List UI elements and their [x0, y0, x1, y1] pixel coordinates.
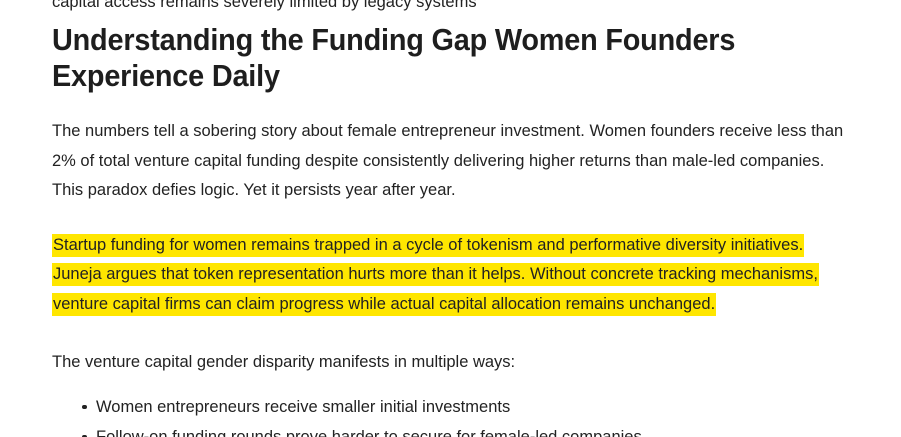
paragraph-intro: The numbers tell a sobering story about …	[52, 94, 852, 206]
highlight-mark: Startup funding for women remains trappe…	[52, 234, 819, 316]
page-title: Understanding the Funding Gap Women Foun…	[52, 0, 852, 94]
list-item: Follow-on funding rounds prove harder to…	[96, 422, 852, 437]
disparity-list: Women entrepreneurs receive smaller init…	[52, 378, 852, 437]
highlighted-paragraph: Startup funding for women remains trappe…	[52, 206, 852, 320]
article-content: Understanding the Funding Gap Women Foun…	[52, 0, 852, 437]
article-page: capital access remains severely limited …	[0, 0, 901, 437]
paragraph-lead-in: The venture capital gender disparity man…	[52, 319, 852, 378]
list-item: Women entrepreneurs receive smaller init…	[96, 392, 852, 422]
